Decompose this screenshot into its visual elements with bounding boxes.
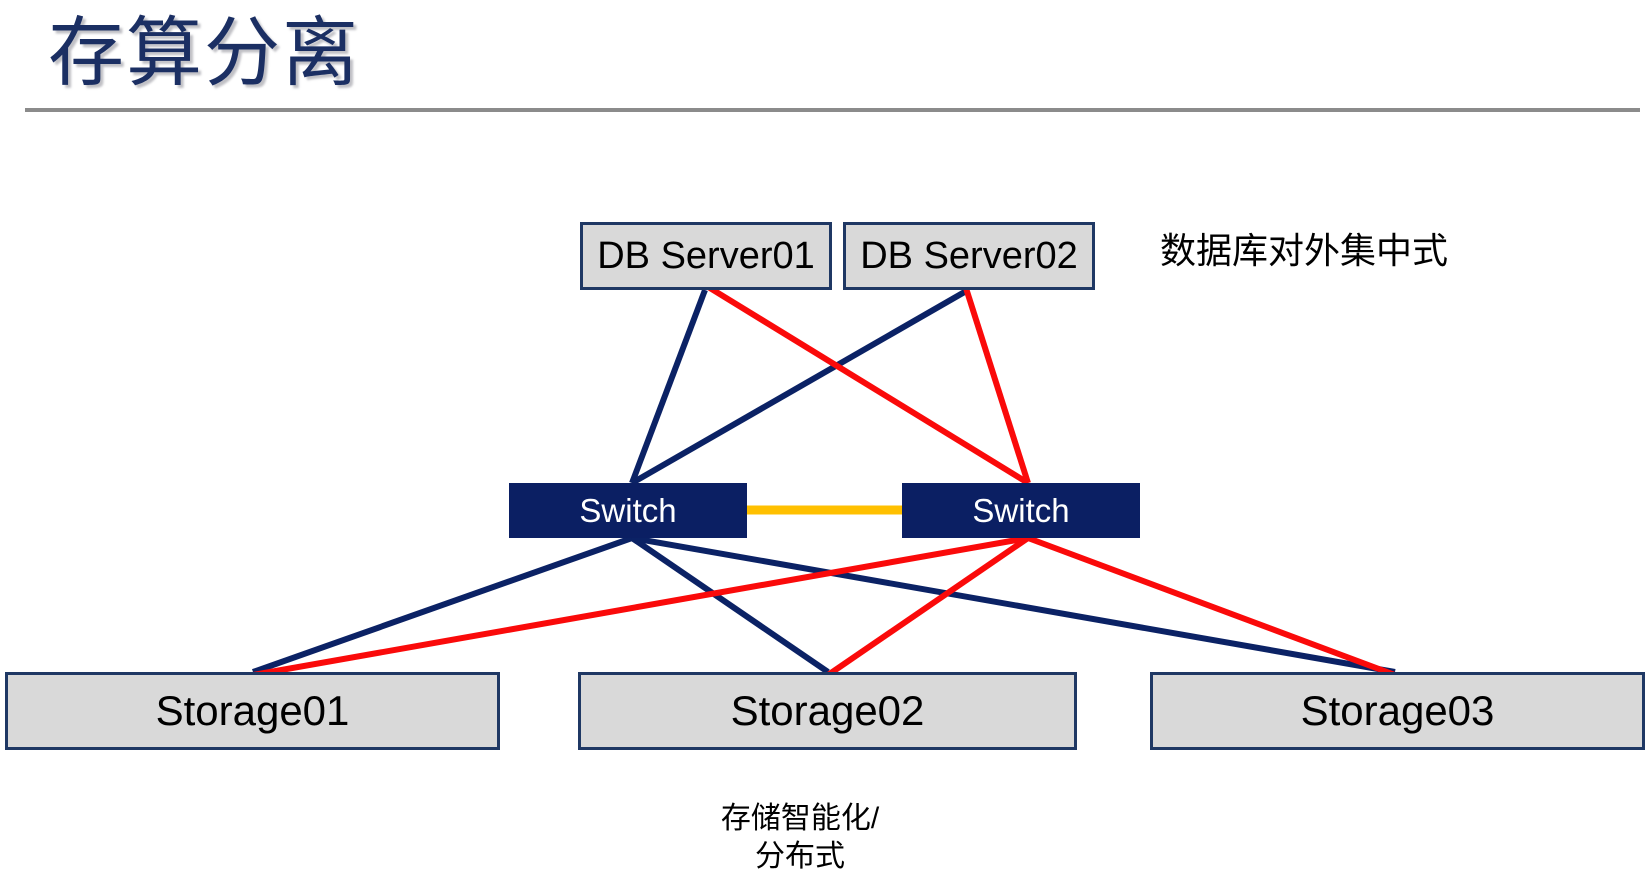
storage-annotation-line-1: 存储智能化/ xyxy=(640,800,960,838)
node-storage-01[interactable]: Storage01 xyxy=(5,672,500,750)
connector-layer xyxy=(0,0,1648,886)
node-db-server-02[interactable]: DB Server02 xyxy=(843,222,1095,290)
link-switch-left-to-storage-01 xyxy=(253,538,632,672)
link-switch-left-to-storage-03 xyxy=(632,538,1395,672)
storage-annotation: 存储智能化/ 分布式 xyxy=(640,800,960,876)
storage-annotation-line-2: 分布式 xyxy=(640,838,960,876)
node-storage-03-label: Storage03 xyxy=(1301,687,1495,735)
node-db-server-01[interactable]: DB Server01 xyxy=(580,222,832,290)
node-storage-02[interactable]: Storage02 xyxy=(578,672,1077,750)
node-storage-02-label: Storage02 xyxy=(731,687,925,735)
link-db02-to-switch-left xyxy=(632,290,968,483)
node-storage-03[interactable]: Storage03 xyxy=(1150,672,1645,750)
node-switch-left[interactable]: Switch xyxy=(509,483,747,538)
node-switch-right[interactable]: Switch xyxy=(902,483,1140,538)
link-db01-to-switch-right xyxy=(705,285,1028,483)
slide-canvas: 存算分离 DB Server01 DB Server02 Switch Swit… xyxy=(0,0,1648,886)
node-switch-right-label: Switch xyxy=(972,492,1069,530)
node-db-server-01-label: DB Server01 xyxy=(597,235,815,278)
link-db01-to-switch-left xyxy=(632,290,705,483)
node-storage-01-label: Storage01 xyxy=(156,687,350,735)
link-switch-right-to-storage-01 xyxy=(253,538,1028,675)
link-switch-right-to-storage-03 xyxy=(1028,538,1395,675)
node-db-server-02-label: DB Server02 xyxy=(860,235,1078,278)
database-annotation: 数据库对外集中式 xyxy=(1160,227,1448,275)
node-switch-left-label: Switch xyxy=(579,492,676,530)
